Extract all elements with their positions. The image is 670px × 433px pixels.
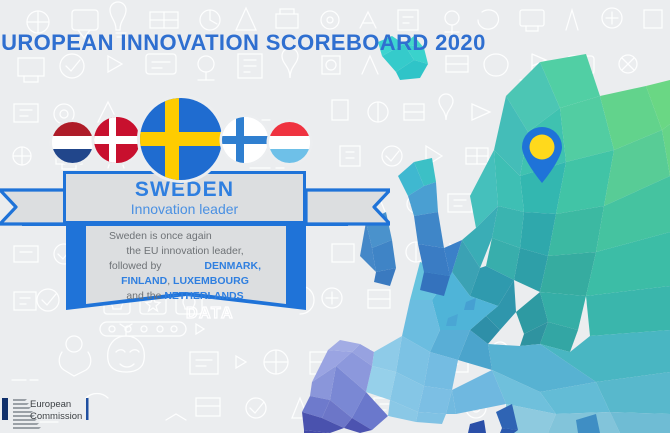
country-name: SWEDEN [135, 179, 234, 200]
map-pin-sweden [519, 126, 565, 184]
flag-netherlands [52, 122, 93, 163]
blurb-line-3: followed by DENMARK, [109, 259, 261, 274]
flag-denmark [94, 117, 140, 163]
infographic-canvas: DATA [0, 0, 670, 433]
page-title: EUROPEAN INNOVATION SCOREBOARD 2020 [0, 30, 486, 56]
european-commission-label: European Commission [30, 399, 82, 423]
country-role: Innovation leader [131, 202, 238, 216]
ec-line-1: European [30, 399, 82, 411]
blurb-line-1: Sweden is once again [109, 229, 261, 244]
blurb-line-2: the EU innovation leader, [126, 244, 243, 259]
european-commission-logo [0, 396, 190, 433]
blurb-line-5: and the NETHERLANDS [126, 289, 243, 304]
flag-finland [222, 117, 268, 163]
blurb-line-4: FINLAND, LUXEMBOURG [121, 274, 249, 289]
flag-sweden [140, 98, 222, 180]
banner-description: Sweden is once again the EU innovation l… [88, 226, 282, 306]
ec-line-2: Commission [30, 411, 82, 423]
flag-luxembourg [269, 122, 310, 163]
